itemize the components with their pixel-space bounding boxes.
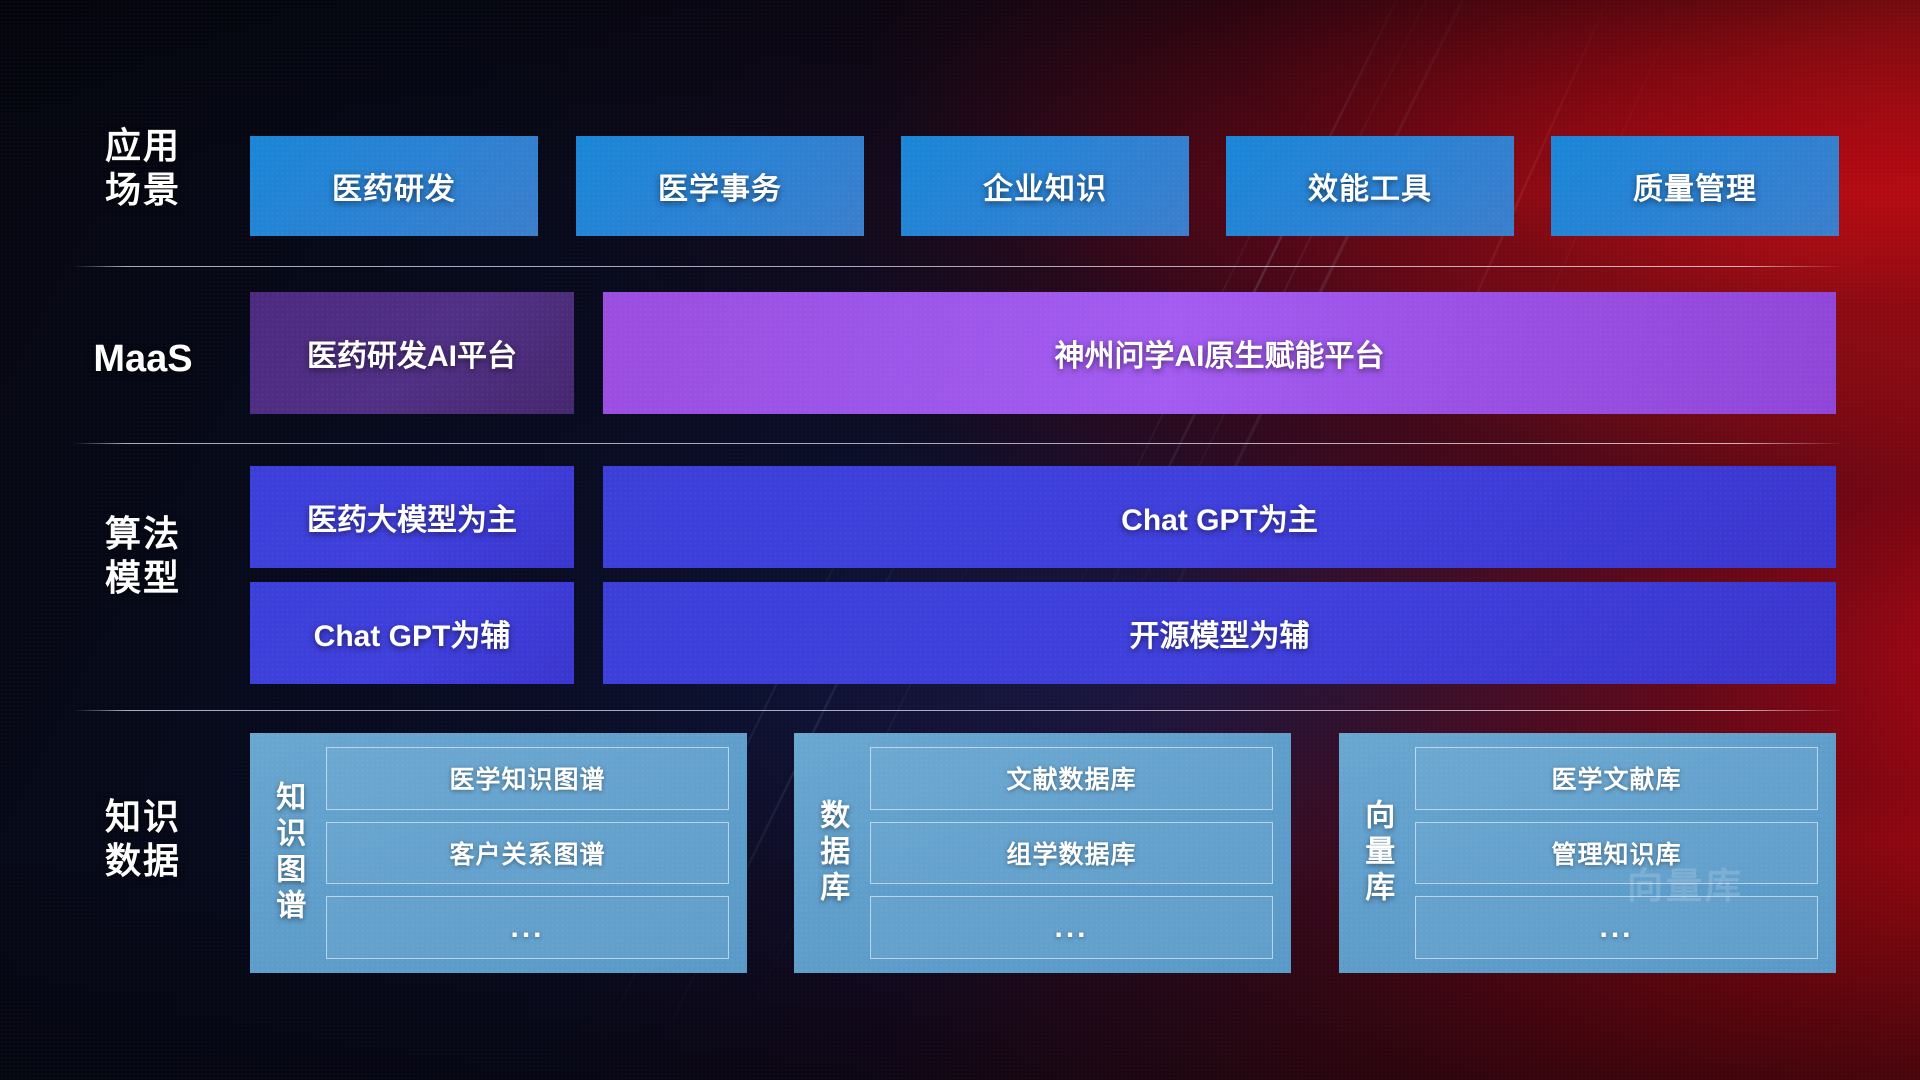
architecture-diagram: 应用 场景 医药研发 医学事务 企业知识 效能工具 质量管理 MaaS 医药研发…	[0, 0, 1920, 1080]
row-label-algorithm-line2: 模型	[73, 556, 213, 600]
knowledge-item-0-1[interactable]: 客户关系图谱	[326, 822, 729, 885]
algo-left-box-1[interactable]: Chat GPT为辅	[250, 582, 574, 684]
knowledge-group-1-items: 文献数据库 组学数据库 ...	[870, 747, 1273, 959]
algo-left-box-0[interactable]: 医药大模型为主	[250, 466, 574, 568]
knowledge-item-1-1[interactable]: 组学数据库	[870, 822, 1273, 885]
knowledge-item-2-2[interactable]: ...	[1415, 896, 1818, 959]
app-box-0[interactable]: 医药研发	[250, 136, 538, 236]
app-box-2[interactable]: 企业知识	[901, 136, 1189, 236]
knowledge-item-2-0[interactable]: 医学文献库	[1415, 747, 1818, 810]
knowledge-item-0-0[interactable]: 医学知识图谱	[326, 747, 729, 810]
maas-right-box[interactable]: 神州问学AI原生赋能平台	[603, 292, 1836, 414]
knowledge-group-2[interactable]: 向量库 向量库 医学文献库 管理知识库 ...	[1339, 733, 1836, 973]
knowledge-item-2-0-label: 医学文献库	[1551, 760, 1681, 796]
row-label-knowledge: 知识 数据	[73, 795, 213, 883]
row-label-knowledge-line1: 知识	[73, 795, 213, 839]
algo-right-box-1-label: 开源模型为辅	[1130, 611, 1310, 655]
app-box-3[interactable]: 效能工具	[1226, 136, 1514, 236]
knowledge-item-1-1-label: 组学数据库	[1006, 835, 1136, 871]
maas-left-box[interactable]: 医药研发AI平台	[250, 292, 574, 414]
maas-left-box-label: 医药研发AI平台	[307, 331, 517, 375]
knowledge-item-2-1[interactable]: 管理知识库	[1415, 822, 1818, 885]
row-label-algorithm: 算法 模型	[73, 512, 213, 600]
knowledge-group-2-title: 向量库	[1353, 799, 1399, 907]
knowledge-item-0-0-label: 医学知识图谱	[449, 760, 605, 796]
divider-application-maas	[73, 266, 1845, 267]
app-box-1[interactable]: 医学事务	[576, 136, 864, 236]
knowledge-item-1-0[interactable]: 文献数据库	[870, 747, 1273, 810]
knowledge-item-1-2[interactable]: ...	[870, 896, 1273, 959]
row-label-application-line1: 应用	[73, 124, 213, 168]
knowledge-item-1-2-label: ...	[1054, 911, 1088, 945]
knowledge-group-1[interactable]: 数据库 文献数据库 组学数据库 ...	[794, 733, 1291, 973]
algo-right-box-0[interactable]: Chat GPT为主	[603, 466, 1836, 568]
app-box-0-label: 医药研发	[332, 164, 456, 208]
row-label-maas: MaaS	[73, 336, 213, 382]
knowledge-group-1-title: 数据库	[808, 799, 854, 907]
app-box-4[interactable]: 质量管理	[1551, 136, 1839, 236]
row-label-application: 应用 场景	[73, 124, 213, 212]
app-box-1-label: 医学事务	[658, 164, 782, 208]
divider-maas-algorithm	[73, 443, 1845, 444]
knowledge-group-0[interactable]: 知识图谱 医学知识图谱 客户关系图谱 ...	[250, 733, 747, 973]
algo-right-box-0-label: Chat GPT为主	[1121, 495, 1318, 539]
divider-algorithm-knowledge	[73, 710, 1845, 711]
knowledge-group-0-title: 知识图谱	[264, 781, 310, 925]
knowledge-item-0-1-label: 客户关系图谱	[449, 835, 605, 871]
knowledge-item-2-2-label: ...	[1599, 911, 1633, 945]
knowledge-item-0-2[interactable]: ...	[326, 896, 729, 959]
knowledge-group-0-items: 医学知识图谱 客户关系图谱 ...	[326, 747, 729, 959]
app-box-2-label: 企业知识	[983, 164, 1107, 208]
row-label-algorithm-line1: 算法	[73, 512, 213, 556]
row-label-maas-text: MaaS	[73, 336, 213, 382]
knowledge-item-2-1-label: 管理知识库	[1551, 835, 1681, 871]
algo-left-box-1-label: Chat GPT为辅	[314, 611, 511, 655]
algo-right-box-1[interactable]: 开源模型为辅	[603, 582, 1836, 684]
knowledge-item-1-0-label: 文献数据库	[1006, 760, 1136, 796]
app-box-4-label: 质量管理	[1633, 164, 1757, 208]
knowledge-item-0-2-label: ...	[510, 911, 544, 945]
algo-left-box-0-label: 医药大模型为主	[307, 495, 517, 539]
app-box-3-label: 效能工具	[1308, 164, 1432, 208]
maas-right-box-label: 神州问学AI原生赋能平台	[1055, 331, 1385, 375]
knowledge-group-2-items: 医学文献库 管理知识库 ...	[1415, 747, 1818, 959]
row-label-knowledge-line2: 数据	[73, 839, 213, 883]
row-label-application-line2: 场景	[73, 168, 213, 212]
